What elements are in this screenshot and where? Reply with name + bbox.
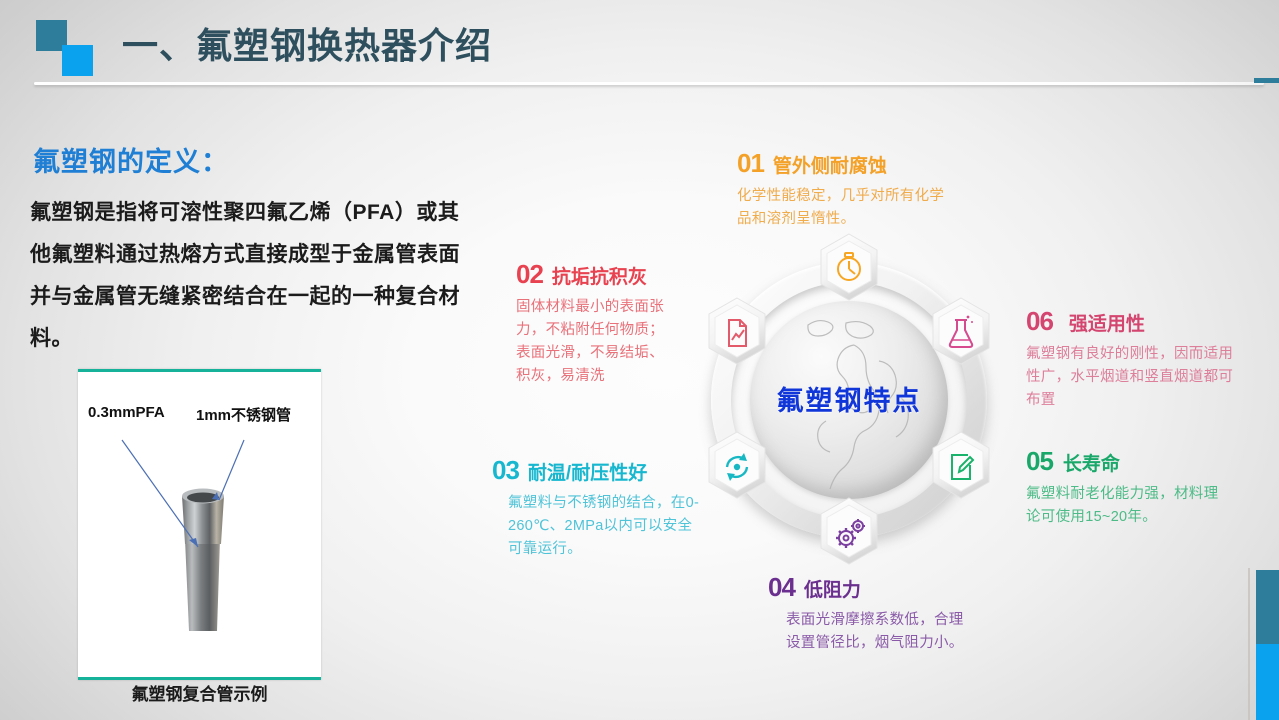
photo-label-pfa: 0.3mmPFA bbox=[88, 404, 165, 421]
slide-canvas: 一、氟塑钢换热器介绍 氟塑钢的定义： 氟塑钢是指将可溶性聚四氟乙烯（PFA）或其… bbox=[0, 0, 1279, 720]
hex-node-flask[interactable] bbox=[930, 297, 992, 365]
feature-02-title: 抗垢抗积灰 bbox=[552, 262, 647, 289]
feature-04-title: 低阻力 bbox=[804, 575, 861, 602]
feature-05-body: 氟塑料耐老化能力强，材料理论可使用15~20年。 bbox=[1026, 483, 1226, 529]
feature-02-number: 02 bbox=[516, 259, 543, 290]
photo-label-steel-tube: 1mm不锈钢管 bbox=[196, 404, 291, 425]
feature-03: 03 耐温/耐压性好 氟塑料与不锈钢的结合，在0-260℃、2MPa以内可以安全… bbox=[492, 455, 702, 561]
feature-05: 05 长寿命 氟塑料耐老化能力强，材料理论可使用15~20年。 bbox=[1026, 446, 1226, 529]
feature-02-head: 02 抗垢抗积灰 bbox=[516, 259, 676, 290]
feature-04-head: 04 低阻力 bbox=[768, 572, 968, 603]
definition-body: 氟塑钢是指将可溶性聚四氟乙烯（PFA）或其他氟塑料通过热熔方式直接成型于金属管表… bbox=[30, 192, 480, 360]
feature-06-number: 06 bbox=[1026, 306, 1053, 337]
feature-03-number: 03 bbox=[492, 455, 519, 486]
feature-05-head: 05 长寿命 bbox=[1026, 446, 1226, 477]
feature-05-title: 长寿命 bbox=[1063, 449, 1120, 476]
feature-06: 06 强适用性 氟塑钢有良好的刚性，因而适用性广，水平烟道和竖直烟道都可布置 bbox=[1026, 306, 1241, 412]
header-divider bbox=[34, 82, 1264, 85]
feature-01-head: 01 管外侧耐腐蚀 bbox=[737, 148, 952, 179]
feature-04-number: 04 bbox=[768, 572, 795, 603]
feature-01-title: 管外侧耐腐蚀 bbox=[773, 151, 887, 178]
feature-03-body: 氟塑料与不锈钢的结合，在0-260℃、2MPa以内可以安全可靠运行。 bbox=[492, 492, 702, 561]
feature-03-head: 03 耐温/耐压性好 bbox=[492, 455, 702, 486]
feature-03-title: 耐温/耐压性好 bbox=[528, 458, 647, 485]
header-square-blue bbox=[62, 45, 93, 76]
hex-node-edit-document[interactable] bbox=[930, 431, 992, 499]
center-label: 氟塑钢特点 bbox=[684, 379, 1014, 418]
feature-01: 01 管外侧耐腐蚀 化学性能稳定，几乎对所有化学品和溶剂呈惰性。 bbox=[737, 148, 952, 231]
feature-06-title: 强适用性 bbox=[1069, 309, 1145, 336]
feature-04-body: 表面光滑摩擦系数低，合理设置管径比，烟气阻力小。 bbox=[768, 609, 968, 655]
photo-caption: 氟塑钢复合管示例 bbox=[78, 680, 321, 705]
definition-title: 氟塑钢的定义： bbox=[33, 140, 229, 179]
feature-06-head: 06 强适用性 bbox=[1026, 306, 1241, 337]
page-title: 一、氟塑钢换热器介绍 bbox=[122, 17, 492, 69]
hex-node-chart-document[interactable] bbox=[706, 297, 768, 365]
hex-node-stopwatch[interactable] bbox=[818, 233, 880, 301]
edge-bar-seam bbox=[1248, 568, 1250, 720]
features-ring-diagram: 氟塑钢特点 bbox=[684, 235, 1014, 570]
header-divider-end-tick bbox=[1254, 78, 1279, 83]
feature-01-number: 01 bbox=[737, 148, 764, 179]
edge-bar-teal bbox=[1256, 570, 1279, 644]
feature-01-body: 化学性能稳定，几乎对所有化学品和溶剂呈惰性。 bbox=[737, 185, 952, 231]
edge-bar-blue bbox=[1256, 644, 1279, 720]
feature-02-body: 固体材料最小的表面张力，不粘附任何物质；表面光滑，不易结垢、积灰，易清洗 bbox=[516, 296, 676, 388]
composite-pipe-photo: 0.3mmPFA 1mm不锈钢管 bbox=[78, 369, 321, 680]
feature-04: 04 低阻力 表面光滑摩擦系数低，合理设置管径比，烟气阻力小。 bbox=[768, 572, 968, 655]
feature-05-number: 05 bbox=[1026, 446, 1053, 477]
hex-node-gears[interactable] bbox=[818, 497, 880, 565]
feature-02: 02 抗垢抗积灰 固体材料最小的表面张力，不粘附任何物质；表面光滑，不易结垢、积… bbox=[516, 259, 676, 388]
feature-06-body: 氟塑钢有良好的刚性，因而适用性广，水平烟道和竖直烟道都可布置 bbox=[1026, 343, 1241, 412]
hex-node-recycle[interactable] bbox=[706, 431, 768, 499]
